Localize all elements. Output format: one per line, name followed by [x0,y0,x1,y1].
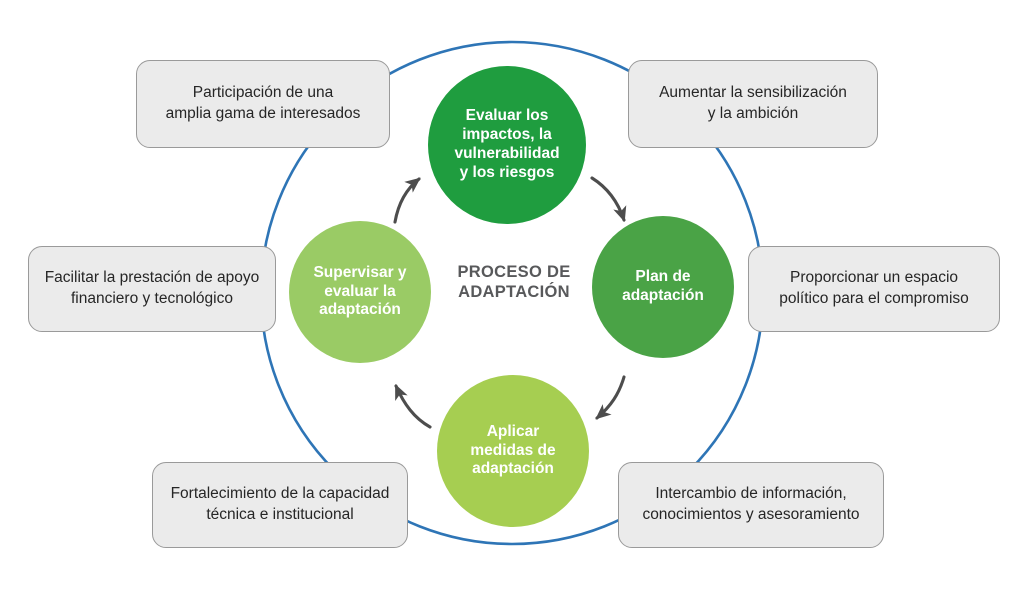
cycle-step-implement[interactable]: Aplicar medidas de adaptación [437,375,589,527]
arrow-implement-to-monitor [396,386,430,427]
cycle-step-plan-label: Plan de adaptación [622,268,704,306]
enabler-box-policy[interactable]: Proporcionar un espacio político para el… [748,246,1000,332]
enabler-box-awareness-label: Aumentar la sensibilización y la ambició… [659,83,847,125]
arrow-assess-to-plan [592,178,624,220]
diagram-center-title: PROCESO DE ADAPTACIÓN [430,262,598,303]
cycle-step-assess[interactable]: Evaluar los impactos, la vulnerabilidad … [428,66,586,224]
arrow-monitor-to-assess [395,179,419,222]
enabler-box-finance-label: Facilitar la prestación de apoyo financi… [45,268,260,310]
enabler-box-policy-label: Proporcionar un espacio político para el… [779,268,969,310]
enabler-box-capacity[interactable]: Fortalecimiento de la capacidad técnica … [152,462,408,548]
enabler-box-awareness[interactable]: Aumentar la sensibilización y la ambició… [628,60,878,148]
enabler-box-finance[interactable]: Facilitar la prestación de apoyo financi… [28,246,276,332]
cycle-step-plan[interactable]: Plan de adaptación [592,216,734,358]
enabler-box-exchange-label: Intercambio de información, conocimiento… [642,484,859,526]
arrow-plan-to-implement [597,377,624,418]
cycle-step-implement-label: Aplicar medidas de adaptación [470,423,555,480]
enabler-box-stakeholders[interactable]: Participación de una amplia gama de inte… [136,60,390,148]
adaptation-process-diagram: Evaluar los impactos, la vulnerabilidad … [0,0,1024,598]
cycle-step-monitor[interactable]: Supervisar y evaluar la adaptación [289,221,431,363]
cycle-step-assess-label: Evaluar los impactos, la vulnerabilidad … [454,107,559,183]
enabler-box-stakeholders-label: Participación de una amplia gama de inte… [166,83,361,125]
cycle-step-monitor-label: Supervisar y evaluar la adaptación [313,264,406,321]
enabler-box-capacity-label: Fortalecimiento de la capacidad técnica … [171,484,390,526]
enabler-box-exchange[interactable]: Intercambio de información, conocimiento… [618,462,884,548]
